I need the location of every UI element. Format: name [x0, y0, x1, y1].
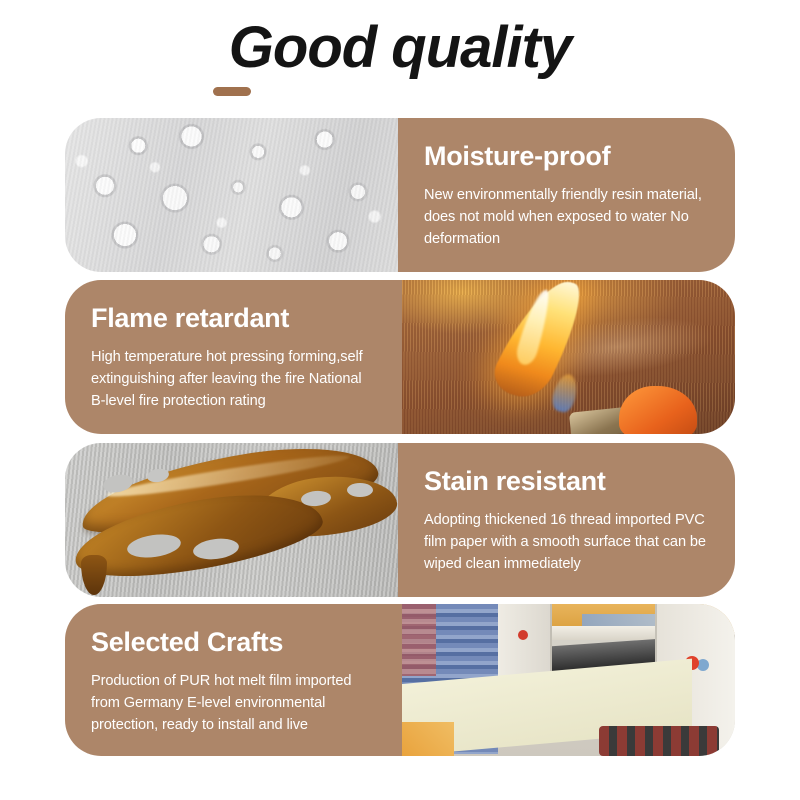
feature-title: Selected Crafts	[91, 628, 376, 658]
feature-body: High temperature hot pressing forming,se…	[91, 346, 376, 412]
feature-panel-selected-crafts: Selected Crafts Production of PUR hot me…	[65, 604, 402, 756]
feature-title: Moisture-proof	[424, 142, 709, 172]
water-droplets-on-panel-photo	[65, 118, 398, 272]
machine-foreground-edge	[402, 722, 454, 756]
feature-title: Flame retardant	[91, 304, 376, 334]
page-title-wrap: Good quality	[0, 18, 800, 79]
feature-body: New environmentally friendly resin mater…	[424, 184, 709, 250]
machine-background-panel	[402, 604, 436, 676]
page-title: Good quality	[229, 18, 571, 79]
feature-panel-flame-retardant: Flame retardant High temperature hot pre…	[65, 280, 402, 434]
syrup-gap	[347, 483, 373, 497]
feature-title: Stain resistant	[424, 467, 709, 497]
infographic-page: Good quality Moisture-proof New environm…	[0, 0, 800, 800]
flame-on-wood-panel-photo	[402, 280, 735, 434]
feature-panel-moisture-proof: Moisture-proof New environmentally frien…	[398, 118, 735, 272]
feature-row-selected-crafts: Selected Crafts Production of PUR hot me…	[65, 604, 735, 756]
machine-conveyor-rollers	[599, 726, 719, 756]
feature-row-moisture-proof: Moisture-proof New environmentally frien…	[65, 118, 735, 272]
feature-body: Production of PUR hot melt film imported…	[91, 670, 376, 736]
machine-indicator-light	[518, 630, 528, 640]
laminating-machine-photo	[402, 604, 735, 756]
feature-row-flame-retardant: Flame retardant High temperature hot pre…	[65, 280, 735, 434]
syrup-drip	[81, 555, 107, 595]
feature-panel-stain-resistant: Stain resistant Adopting thickened 16 th…	[398, 443, 735, 597]
lighter-orange-body	[619, 386, 697, 434]
title-underline-accent	[213, 87, 251, 96]
feature-body: Adopting thickened 16 thread imported PV…	[424, 509, 709, 575]
caramel-spill-on-panel-photo	[65, 443, 398, 597]
feature-row-stain-resistant: Stain resistant Adopting thickened 16 th…	[65, 443, 735, 597]
